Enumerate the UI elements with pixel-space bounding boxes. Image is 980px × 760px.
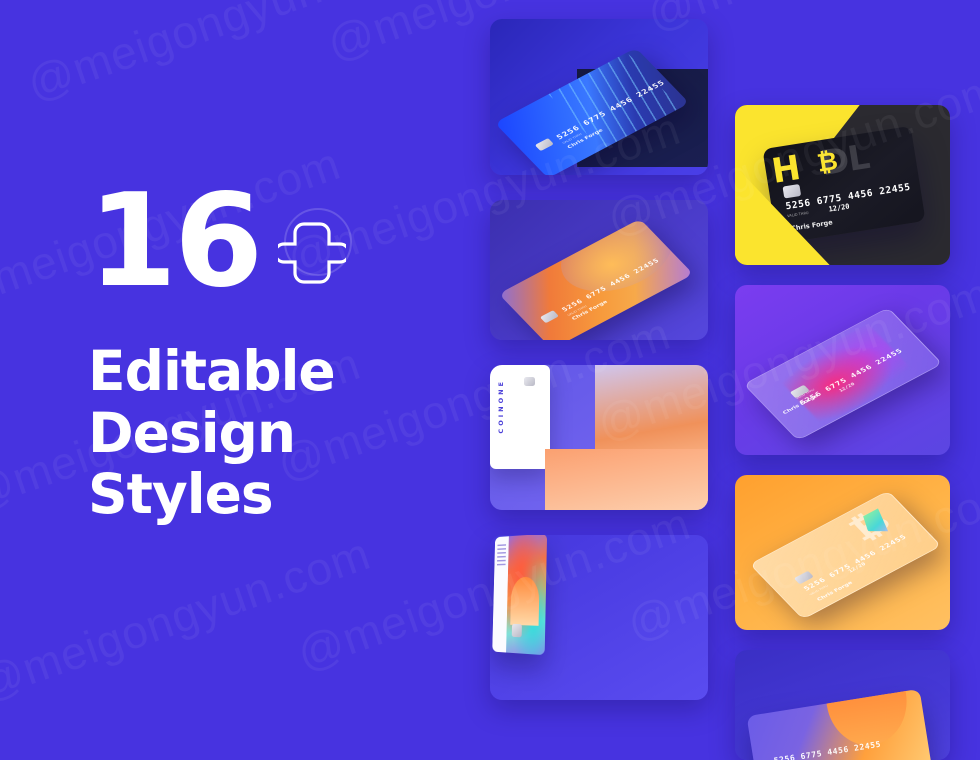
thumbnail-column-left: 5256 6775 4456 22455 Chris Forge VALID T…: [490, 19, 708, 700]
card-gradient-blob: [542, 219, 692, 307]
thumbnail-holographic-vertical-card[interactable]: [490, 535, 708, 700]
page-title: Editable Design Styles: [88, 341, 448, 526]
headline-line-1: Editable: [88, 341, 448, 403]
card-dot-pattern: [497, 544, 506, 566]
card-number: 5256 6775 4456 22455: [773, 740, 881, 760]
card-lower-gradient: [545, 449, 551, 469]
credit-card-mockup: 5256 6775 4456 22455 VALID THRU 12/20 Ch…: [743, 307, 942, 440]
watermark-text: @meigongyun.com: [20, 0, 427, 111]
thumbnail-blue-gradient-isometric-card[interactable]: 5256 6775 4456 22455 Chris Forge VALID T…: [490, 19, 708, 175]
coinone-logo: COINONE: [497, 379, 505, 434]
card-face: 5256 6775 4456 22455 Chris Forge VALID T…: [499, 219, 694, 340]
card-face: 5256 6775 4456 22455 VALID THRU 12/20 Ch…: [745, 308, 942, 439]
plus-icon: [278, 218, 346, 286]
card-chip-icon: [782, 184, 801, 199]
credit-card-mockup: 5256 6775 4456 22455 Chris Forge: [747, 689, 935, 760]
credit-card-mockup: [492, 535, 547, 655]
thumbnail-column-right: HoDL ₿ 5256 6775 4456 22455 VALID THRU 1…: [735, 105, 950, 760]
card-sun-arch: [510, 577, 540, 625]
card-number: 5256 6775 4456 22455: [802, 533, 908, 592]
card-chip-icon: [535, 138, 554, 151]
card-face: HoDL ₿ 5256 6775 4456 22455 VALID THRU 1…: [762, 126, 925, 244]
headline-line-2: Design: [88, 403, 448, 465]
plus-icon-wrap: [278, 212, 350, 284]
watermark-text: @meigongyun.com: [0, 526, 377, 711]
thumbnail-hodl-black-yellow-card[interactable]: HoDL ₿ 5256 6775 4456 22455 VALID THRU 1…: [735, 105, 950, 265]
card-holder-name: Chris Forge: [791, 218, 834, 232]
design-count: 16: [88, 190, 260, 295]
card-chip-icon: [540, 310, 559, 323]
thumbnail-coinone-vertical-card[interactable]: COINONE: [490, 365, 708, 510]
credit-card-mockup: 5256 6775 4456 22455 Chris Forge VALID T…: [499, 219, 694, 340]
credit-card-mockup: HoDL ₿ 5256 6775 4456 22455 VALID THRU 1…: [762, 126, 925, 244]
card-valid-label: VALID THRU: [787, 211, 809, 218]
promo-panel: 16 Editable Design Styles: [88, 190, 448, 526]
card-face: 5256 6775 4456 22455 Chris Forge: [747, 689, 935, 760]
thumbnail-frosted-pink-glass-card[interactable]: 5256 6775 4456 22455 VALID THRU 12/20 Ch…: [735, 285, 950, 455]
thumbnail-orange-bitcoin-card[interactable]: ₿ 5256 6775 4456 22455 VALID THRU 12/20 …: [735, 475, 950, 630]
card-face: ₿ 5256 6775 4456 22455 VALID THRU 12/20 …: [751, 491, 940, 618]
thumbnail-sunset-gradient-card[interactable]: 5256 6775 4456 22455 Chris Forge: [735, 650, 950, 760]
count-row: 16: [88, 190, 448, 295]
credit-card-mockup: COINONE: [490, 365, 550, 469]
card-expiry: 12/20: [828, 202, 850, 213]
headline-line-3: Styles: [88, 464, 448, 526]
card-chip-icon: [524, 377, 535, 386]
thumbnail-orange-gradient-isometric-card[interactable]: 5256 6775 4456 22455 Chris Forge VALID T…: [490, 200, 708, 340]
card-chip-icon: [512, 624, 522, 637]
credit-card-mockup: ₿ 5256 6775 4456 22455 VALID THRU 12/20 …: [749, 490, 941, 619]
